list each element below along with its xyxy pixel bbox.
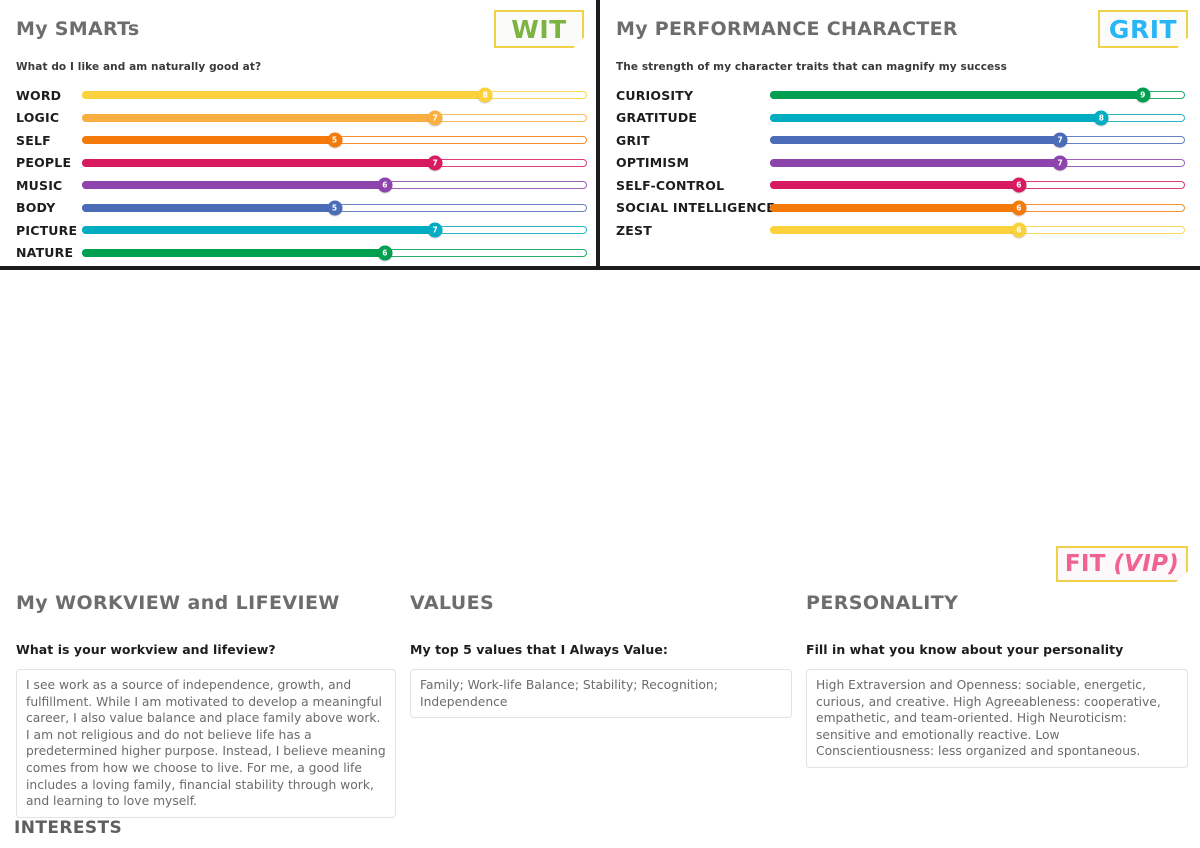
character-slider-track[interactable]: 7 — [770, 152, 1185, 174]
career-profile-page: My SMARTs What do I like and am naturall… — [0, 0, 1200, 848]
slider-fill — [82, 204, 334, 212]
slider-fill — [770, 204, 1018, 212]
smarts-slider-label: WORD — [0, 88, 82, 103]
interests-title: INTERESTS — [14, 818, 434, 838]
slider-track-bg: 5 — [82, 136, 587, 144]
slider-knob[interactable]: 7 — [428, 155, 443, 170]
character-slider-track[interactable]: 6 — [770, 219, 1185, 241]
smarts-slider-track[interactable]: 7 — [82, 219, 587, 241]
smarts-slider-label: PEOPLE — [0, 155, 82, 170]
slider-knob[interactable]: 6 — [1011, 223, 1026, 238]
slider-fill — [770, 226, 1018, 234]
smarts-slider-track[interactable]: 8 — [82, 84, 587, 106]
character-slider-row[interactable]: ZEST6 — [600, 219, 1200, 242]
slider-fill — [82, 249, 384, 257]
slider-track-bg: 7 — [82, 114, 587, 122]
character-slider-row[interactable]: SELF-CONTROL6 — [600, 174, 1200, 197]
smarts-title: My SMARTs — [16, 18, 139, 40]
values-column: VALUES My top 5 values that I Always Val… — [410, 592, 792, 718]
slider-fill — [82, 159, 434, 167]
slider-knob[interactable]: 5 — [327, 133, 342, 148]
slider-track-bg: 6 — [770, 226, 1185, 234]
slider-track-bg: 6 — [770, 204, 1185, 212]
slider-track-bg: 6 — [82, 181, 587, 189]
workview-column: My WORKVIEW and LIFEVIEW What is your wo… — [16, 592, 396, 818]
smarts-slider-label: MUSIC — [0, 178, 82, 193]
slider-knob[interactable]: 6 — [1011, 200, 1026, 215]
slider-fill — [770, 91, 1142, 99]
slider-knob[interactable]: 6 — [377, 245, 392, 260]
performance-character-panel: My PERFORMANCE CHARACTER The strength of… — [600, 0, 1200, 266]
values-title: VALUES — [410, 592, 792, 614]
slider-track-bg: 8 — [82, 91, 587, 99]
slider-fill — [82, 136, 334, 144]
slider-knob[interactable]: 6 — [1011, 178, 1026, 193]
character-slider-track[interactable]: 7 — [770, 129, 1185, 151]
smarts-slider-row[interactable]: MUSIC6 — [0, 174, 596, 197]
values-prompt: My top 5 values that I Always Value: — [410, 642, 792, 657]
smarts-slider-track[interactable]: 6 — [82, 174, 587, 196]
character-slider-label: ZEST — [600, 223, 770, 238]
slider-fill — [82, 114, 434, 122]
smarts-slider-row[interactable]: LOGIC7 — [0, 107, 596, 130]
personality-column: PERSONALITY Fill in what you know about … — [806, 592, 1188, 768]
character-slider-label: SELF-CONTROL — [600, 178, 770, 193]
slider-knob[interactable]: 7 — [1053, 133, 1068, 148]
slider-track-bg: 5 — [82, 204, 587, 212]
slider-fill — [770, 181, 1018, 189]
character-slider-label: SOCIAL INTELLIGENCE — [600, 200, 770, 215]
slider-knob[interactable]: 7 — [428, 223, 443, 238]
slider-track-bg: 8 — [770, 114, 1185, 122]
smarts-slider-row[interactable]: NATURE6 — [0, 242, 596, 265]
slider-track-bg: 7 — [82, 159, 587, 167]
slider-fill — [770, 159, 1059, 167]
slider-knob[interactable]: 5 — [327, 200, 342, 215]
slider-fill — [82, 91, 484, 99]
slider-fill — [82, 181, 384, 189]
character-slider-list: CURIOSITY9GRATITUDE8GRIT7OPTIMISM7SELF-C… — [600, 84, 1200, 242]
fit-badge-sub: (VIP) — [1113, 551, 1179, 577]
smarts-slider-label: LOGIC — [0, 110, 82, 125]
character-slider-track[interactable]: 9 — [770, 84, 1185, 106]
character-slider-row[interactable]: GRATITUDE8 — [600, 107, 1200, 130]
smarts-panel: My SMARTs What do I like and am naturall… — [0, 0, 600, 266]
top-panels: My SMARTs What do I like and am naturall… — [0, 0, 1200, 270]
smarts-slider-track[interactable]: 5 — [82, 129, 587, 151]
slider-track-bg: 9 — [770, 91, 1185, 99]
fit-badge-main: FIT — [1065, 551, 1106, 577]
slider-track-bg: 7 — [770, 159, 1185, 167]
smarts-slider-label: SELF — [0, 133, 82, 148]
workview-answer[interactable]: I see work as a source of independence, … — [16, 669, 396, 818]
character-slider-track[interactable]: 8 — [770, 107, 1185, 129]
smarts-slider-row[interactable]: PICTURE7 — [0, 219, 596, 242]
personality-title: PERSONALITY — [806, 592, 1188, 614]
smarts-slider-row[interactable]: SELF5 — [0, 129, 596, 152]
slider-fill — [770, 114, 1100, 122]
values-answer[interactable]: Family; Work-life Balance; Stability; Re… — [410, 669, 792, 718]
character-slider-track[interactable]: 6 — [770, 174, 1185, 196]
character-slider-label: OPTIMISM — [600, 155, 770, 170]
wit-badge: WIT — [494, 10, 584, 48]
slider-knob[interactable]: 7 — [1053, 155, 1068, 170]
slider-fill — [82, 226, 434, 234]
character-slider-row[interactable]: GRIT7 — [600, 129, 1200, 152]
slider-track-bg: 7 — [770, 136, 1185, 144]
smarts-slider-track[interactable]: 5 — [82, 197, 587, 219]
slider-fill — [770, 136, 1059, 144]
grit-badge-label: GRIT — [1109, 15, 1177, 44]
character-slider-row[interactable]: SOCIAL INTELLIGENCE6 — [600, 197, 1200, 220]
grit-badge: GRIT — [1098, 10, 1188, 48]
personality-answer[interactable]: High Extraversion and Openness: sociable… — [806, 669, 1188, 768]
slider-knob[interactable]: 8 — [1094, 110, 1109, 125]
slider-track-bg: 6 — [82, 249, 587, 257]
personality-prompt: Fill in what you know about your persona… — [806, 642, 1188, 657]
smarts-slider-row[interactable]: WORD8 — [0, 84, 596, 107]
smarts-slider-track[interactable]: 6 — [82, 242, 587, 264]
character-slider-row[interactable]: OPTIMISM7 — [600, 152, 1200, 175]
fit-badge: FIT (VIP) — [1056, 546, 1188, 582]
slider-track-bg: 6 — [770, 181, 1185, 189]
character-slider-track[interactable]: 6 — [770, 197, 1185, 219]
wit-badge-label: WIT — [511, 15, 566, 44]
slider-knob[interactable]: 9 — [1135, 88, 1150, 103]
slider-track-bg: 7 — [82, 226, 587, 234]
character-slider-label: GRATITUDE — [600, 110, 770, 125]
workview-prompt: What is your workview and lifeview? — [16, 642, 396, 657]
smarts-slider-label: NATURE — [0, 245, 82, 260]
smarts-slider-track[interactable]: 7 — [82, 152, 587, 174]
smarts-slider-label: BODY — [0, 200, 82, 215]
smarts-slider-track[interactable]: 7 — [82, 107, 587, 129]
slider-knob[interactable]: 7 — [428, 110, 443, 125]
character-prompt: The strength of my character traits that… — [616, 61, 1007, 73]
slider-knob[interactable]: 6 — [377, 178, 392, 193]
smarts-slider-row[interactable]: PEOPLE7 — [0, 152, 596, 175]
fit-section: FIT (VIP) My WORKVIEW and LIFEVIEW What … — [0, 270, 1200, 844]
fit-badge-label: FIT (VIP) — [1065, 551, 1179, 577]
interests-section: INTERESTS AArtisticCConventionalRRealist… — [14, 818, 434, 848]
character-title: My PERFORMANCE CHARACTER — [616, 18, 958, 40]
smarts-prompt: What do I like and am naturally good at? — [16, 61, 261, 73]
slider-knob[interactable]: 8 — [478, 88, 493, 103]
character-slider-label: GRIT — [600, 133, 770, 148]
workview-title: My WORKVIEW and LIFEVIEW — [16, 592, 396, 614]
smarts-slider-row[interactable]: BODY5 — [0, 197, 596, 220]
smarts-slider-label: PICTURE — [0, 223, 82, 238]
smarts-slider-list: WORD8LOGIC7SELF5PEOPLE7MUSIC6BODY5PICTUR… — [0, 84, 596, 264]
character-slider-row[interactable]: CURIOSITY9 — [600, 84, 1200, 107]
character-slider-label: CURIOSITY — [600, 88, 770, 103]
